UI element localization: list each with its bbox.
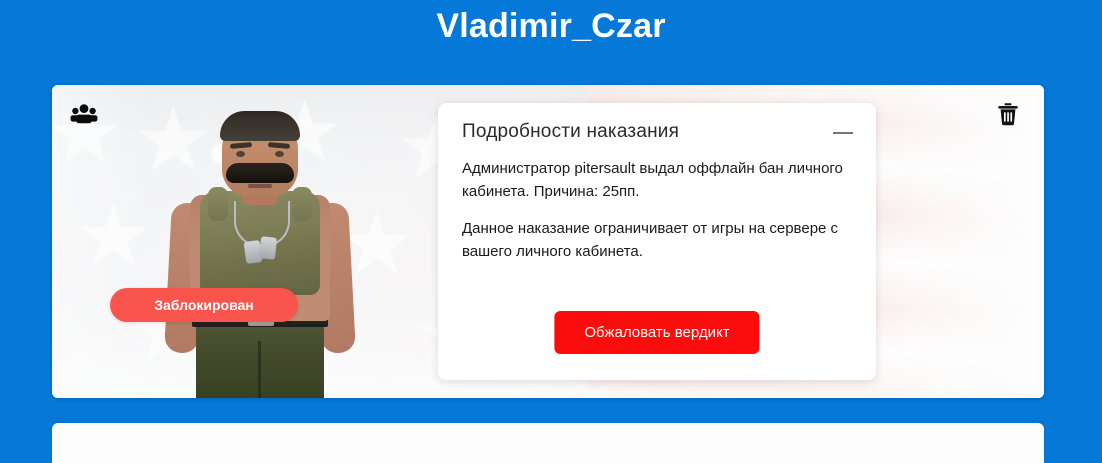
secondary-panel <box>52 423 1044 463</box>
character-dogtag-right <box>259 236 277 260</box>
detail-paragraph: Администратор pitersault выдал оффлайн б… <box>462 157 860 203</box>
detail-paragraph: Данное наказание ограничивает от игры на… <box>462 217 860 263</box>
profile-panel: Заблокирован По <box>52 85 1044 398</box>
detail-card-title: Подробности наказания <box>462 121 679 143</box>
page-title: Vladimir_Czar <box>0 6 1102 46</box>
minus-icon[interactable] <box>832 123 854 141</box>
group-people-icon[interactable] <box>70 100 98 128</box>
detail-card-body: Администратор pitersault выдал оффлайн б… <box>462 157 860 277</box>
punishment-detail-card: Подробности наказания Администратор pite… <box>438 103 876 380</box>
character-eye-left <box>236 151 245 157</box>
character-moustache <box>226 163 294 183</box>
character-legs <box>196 323 324 398</box>
page-root: Vladimir_Czar <box>0 0 1102 430</box>
character-avatar <box>114 99 404 398</box>
trash-icon[interactable] <box>994 100 1022 128</box>
character-eye-right <box>275 151 284 157</box>
character-mouth <box>248 184 272 188</box>
appeal-verdict-button[interactable]: Обжаловать вердикт <box>554 311 759 354</box>
detail-card-header: Подробности наказания <box>462 121 854 143</box>
character-hair <box>220 111 300 141</box>
status-badge: Заблокирован <box>110 288 298 322</box>
